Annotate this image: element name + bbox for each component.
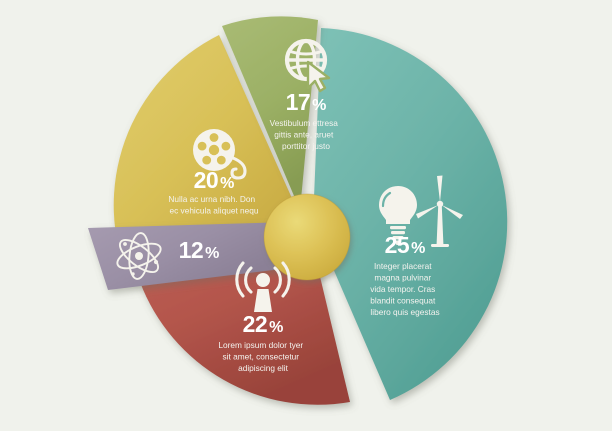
infographic-pie-chart: 17% Vestibulum ettresa gittis ante, arue… [0,0,612,431]
slice-desc-teal: Integer placerat magna pulvinar vida tem… [370,256,440,317]
center-disc [264,194,350,280]
pie-chart-canvas: 17% Vestibulum ettresa gittis ante, arue… [0,0,612,431]
